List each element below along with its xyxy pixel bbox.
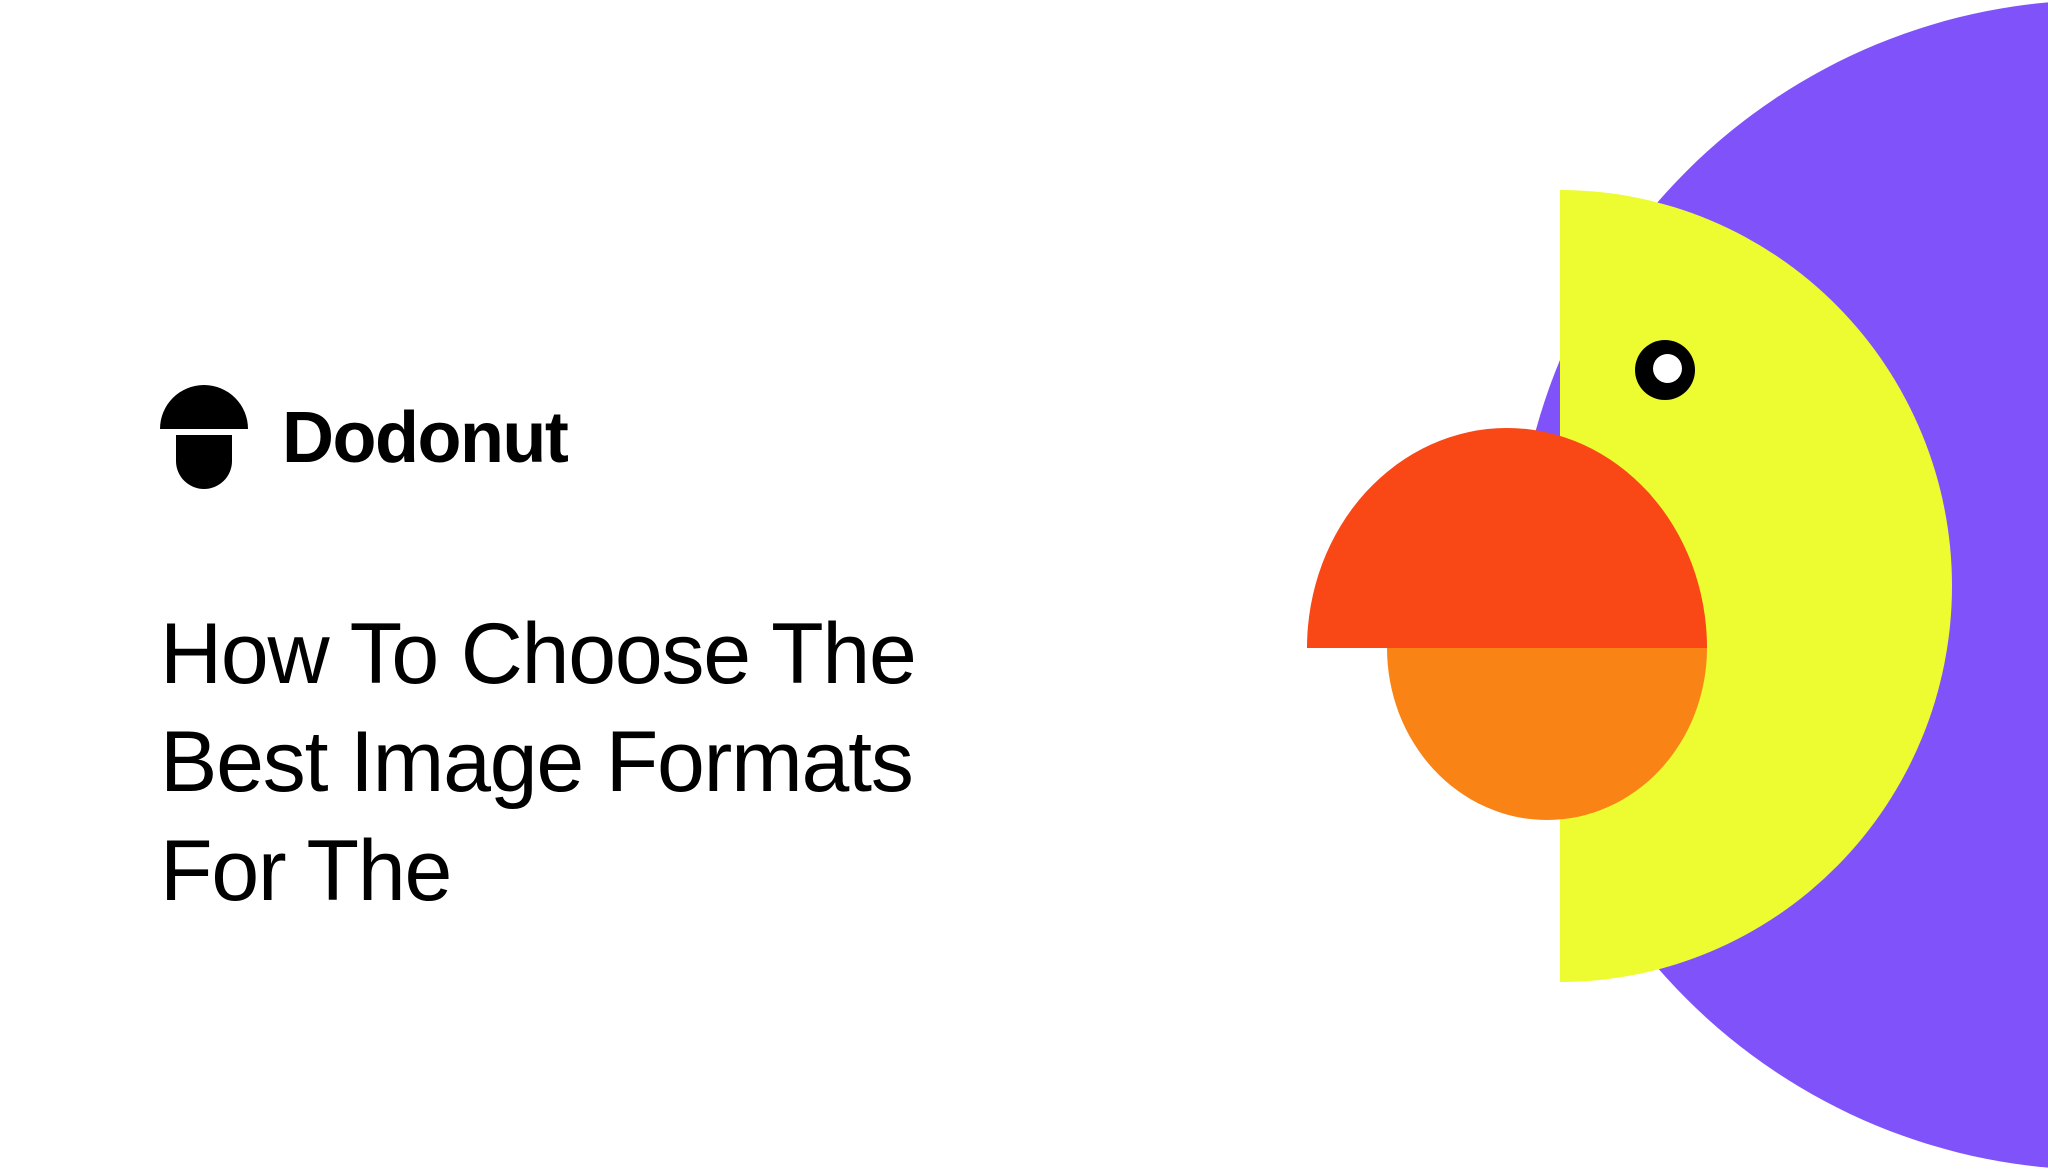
cover-page: Dodonut How To Choose The Best Image For… [0,0,2048,1170]
brand-name: Dodonut [282,402,567,474]
mark-top-semicircle [160,385,248,429]
brand-lockup[interactable]: Dodonut [160,385,567,491]
eye-pupil-icon [1653,354,1682,383]
page-title: How To Choose The Best Image Formats For… [160,600,1140,925]
dodo-bird-illustration [1000,0,2048,1170]
headline-line-3: For The [160,817,1140,925]
mark-bottom-semicircle [176,435,232,489]
headline-line-2: Best Image Formats [160,708,1140,816]
headline-line-1: How To Choose The [160,600,1140,708]
dodonut-split-circle-icon [160,385,248,491]
